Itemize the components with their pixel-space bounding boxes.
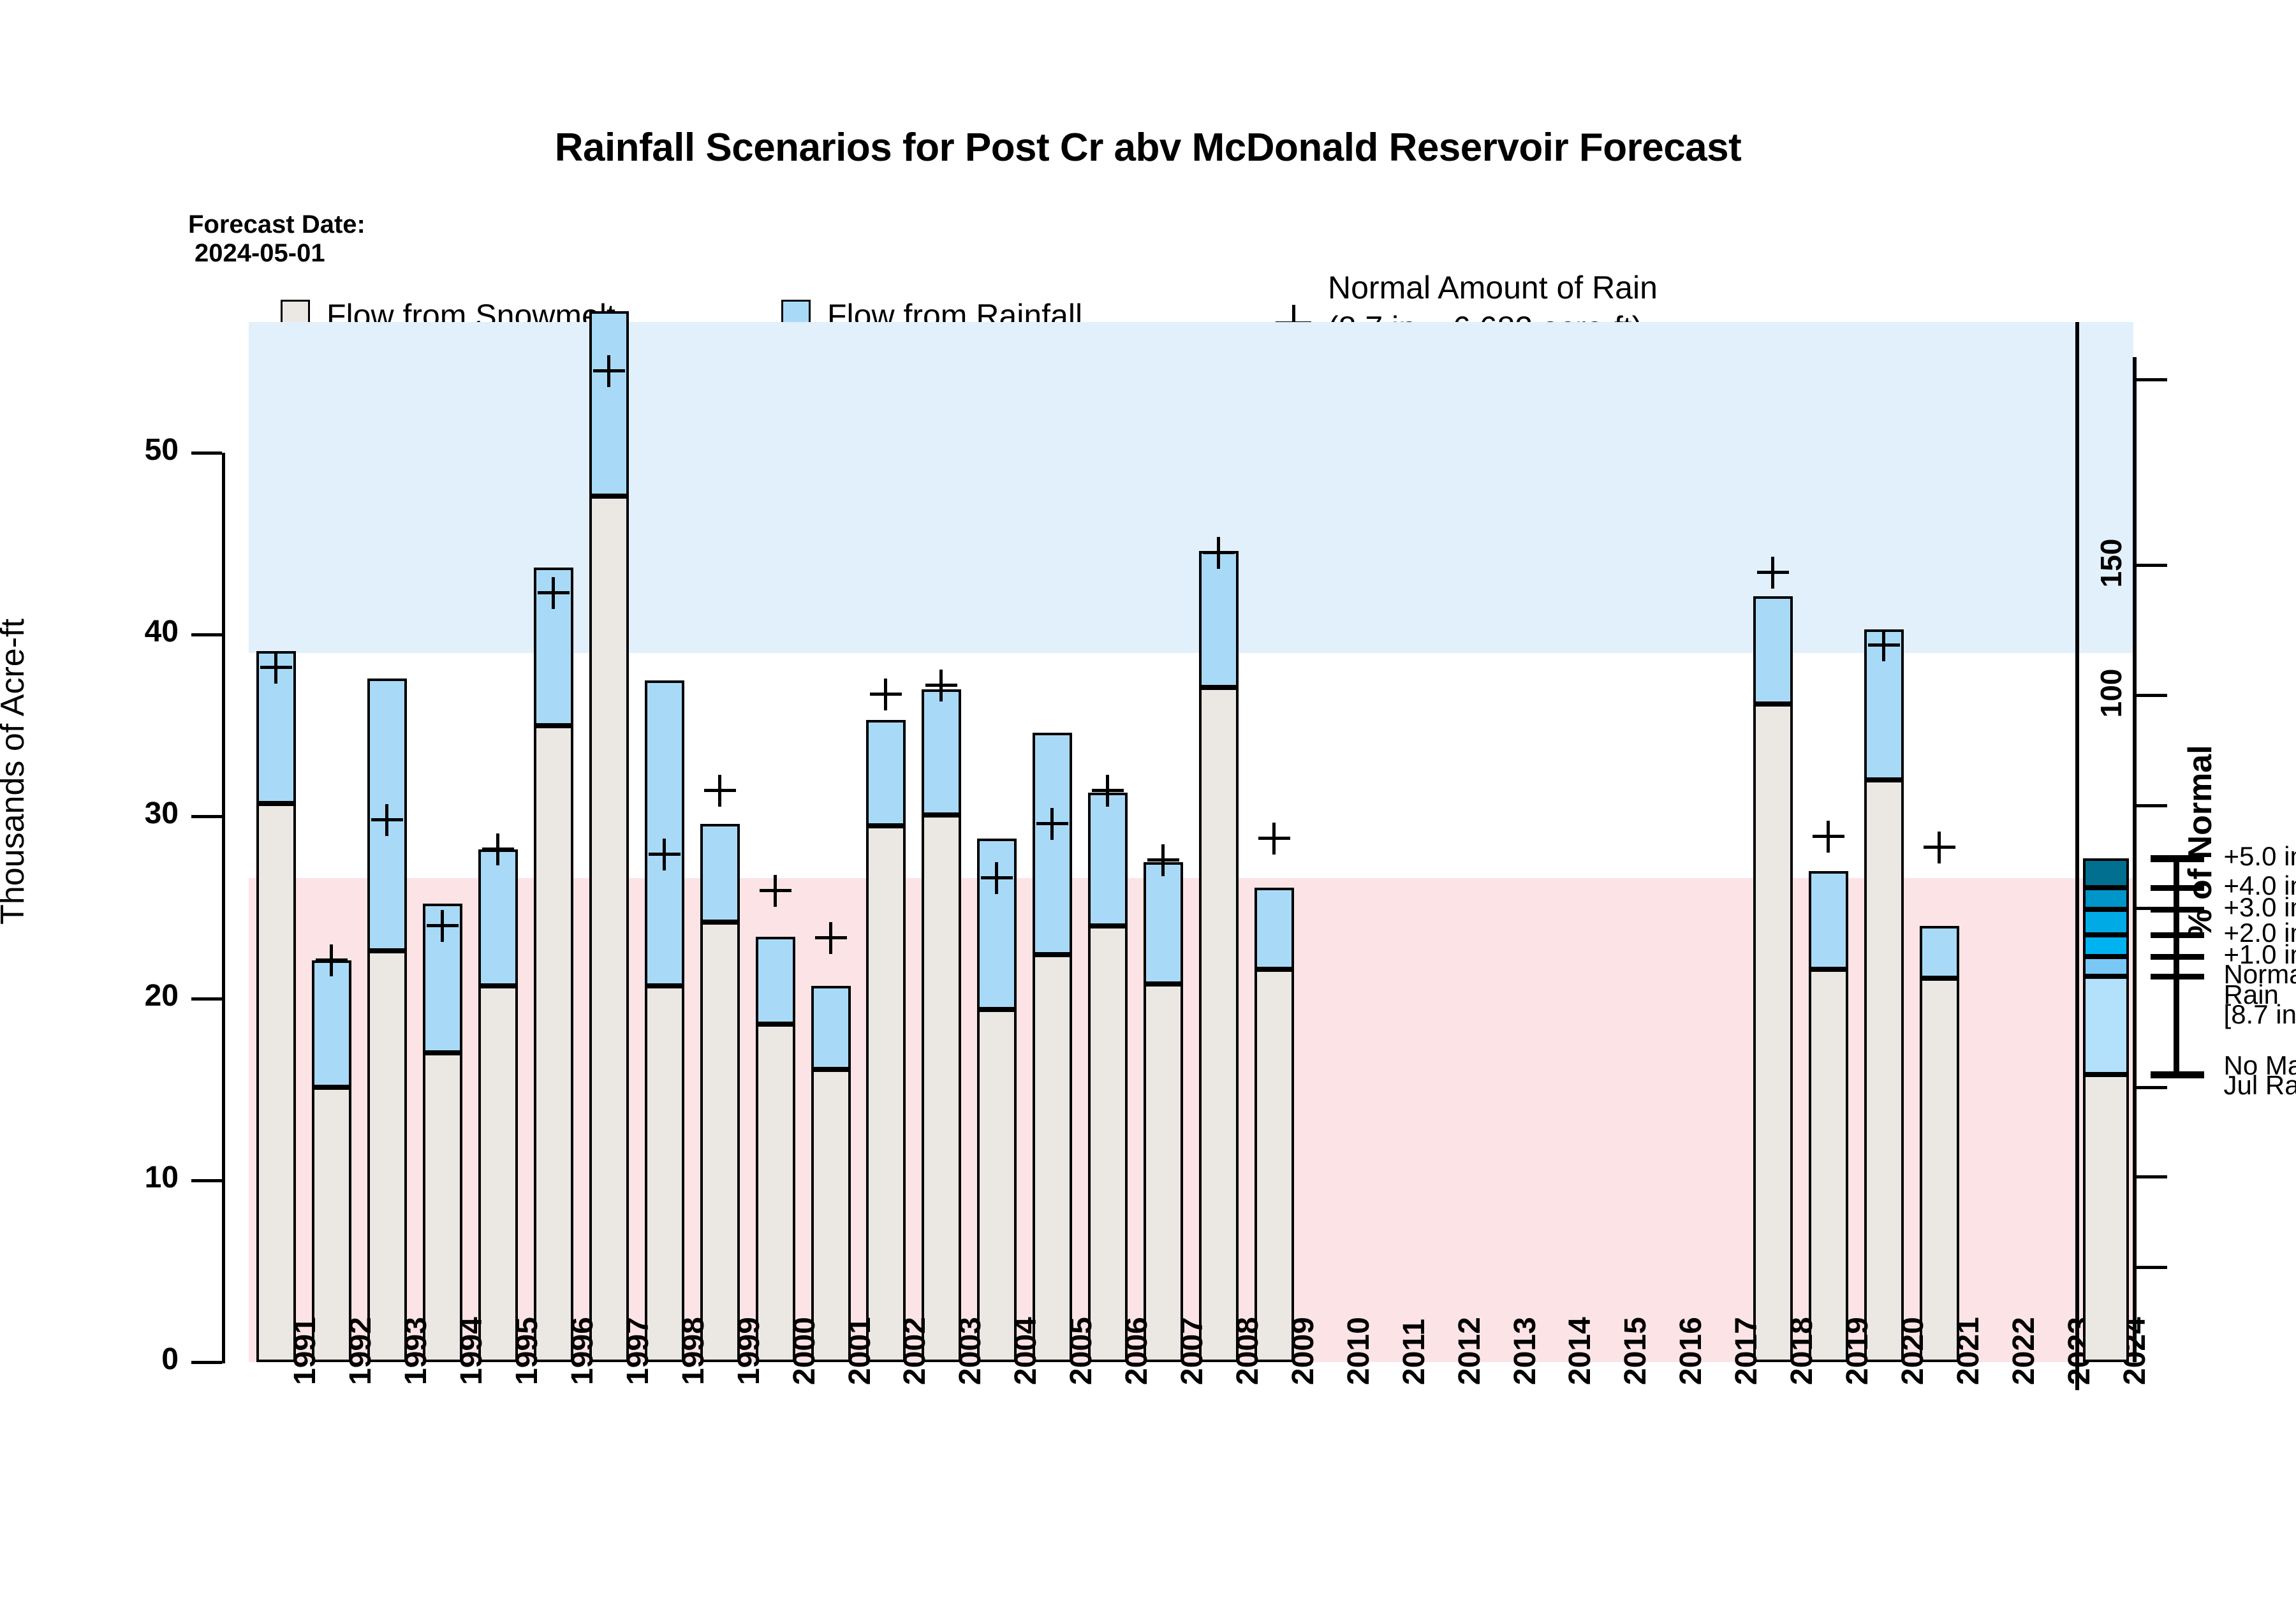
y-tick-label-20: 20 xyxy=(83,978,179,1013)
bar-2006[interactable] xyxy=(1088,793,1128,1362)
right-tick-minor-0 xyxy=(2137,378,2167,381)
plot-area xyxy=(249,322,2133,1362)
scenario-ruler-rod xyxy=(2174,858,2179,1075)
right-axis-line xyxy=(2133,357,2137,1362)
bar-2009[interactable] xyxy=(1255,888,1294,1362)
x-axis-label-2019: 2019 xyxy=(1840,1317,1875,1385)
x-axis-label-1998: 1998 xyxy=(676,1317,711,1385)
y-tick-label-40: 40 xyxy=(83,614,179,649)
bar-segment-rainfall xyxy=(478,849,518,986)
x-axis-label-2021: 2021 xyxy=(1951,1317,1986,1385)
y-tick-label-30: 30 xyxy=(83,796,179,831)
bar-2002[interactable] xyxy=(866,720,906,1362)
bar-1993[interactable] xyxy=(367,679,407,1362)
normal-rain-marker-2000 xyxy=(760,875,791,907)
x-axis-label-1995: 1995 xyxy=(510,1317,545,1385)
normal-rain-marker-2001 xyxy=(815,922,847,954)
bar-segment-snowmelt xyxy=(367,951,407,1362)
bar-1994[interactable] xyxy=(423,904,462,1362)
x-axis-label-1994: 1994 xyxy=(454,1317,489,1385)
x-axis-label-2007: 2007 xyxy=(1175,1317,1210,1385)
x-axis-label-2014: 2014 xyxy=(1563,1317,1598,1385)
normal-rain-marker-2005 xyxy=(1036,808,1068,840)
y-tick-30 xyxy=(191,815,222,818)
scenario-segment-no-rain xyxy=(2083,1075,2129,1362)
scenario-ruler-tick-1 xyxy=(2151,885,2204,891)
bar-segment-rainfall xyxy=(1199,551,1239,687)
bar-1995[interactable] xyxy=(478,849,518,1362)
bar-1997[interactable] xyxy=(589,311,629,1362)
bar-segment-rainfall xyxy=(1144,862,1183,984)
x-axis-label-1991: 1991 xyxy=(288,1317,323,1385)
bar-segment-rainfall xyxy=(1088,793,1128,925)
x-axis-label-2000: 2000 xyxy=(787,1317,822,1385)
x-axis-label-1999: 1999 xyxy=(732,1317,767,1385)
x-axis-label-1992: 1992 xyxy=(343,1317,378,1385)
bar-2008[interactable] xyxy=(1199,551,1239,1362)
y-tick-50 xyxy=(191,451,222,455)
band-below-normal xyxy=(249,878,2133,1362)
right-tick-minor-2 xyxy=(2137,1175,2167,1178)
y-axis-bottom-cap xyxy=(222,1360,225,1363)
normal-rain-marker-2002 xyxy=(870,679,902,710)
x-axis-label-2013: 2013 xyxy=(1508,1317,1543,1385)
y-axis-title: Thousands of Acre-ft xyxy=(0,421,32,1122)
normal-rain-marker-2019 xyxy=(1813,821,1844,853)
normal-rain-marker-1999 xyxy=(704,775,736,807)
bar-segment-rainfall xyxy=(1033,733,1072,955)
bar-segment-snowmelt xyxy=(256,803,296,1362)
x-axis-label-2016: 2016 xyxy=(1674,1317,1709,1385)
normal-rain-marker-1996 xyxy=(538,577,570,609)
x-axis-label-2018: 2018 xyxy=(1785,1317,1820,1385)
bar-segment-snowmelt xyxy=(478,986,518,1362)
scenario-separator-line xyxy=(2075,322,2079,1390)
bar-segment-snowmelt xyxy=(1753,704,1793,1362)
bar-2000[interactable] xyxy=(756,937,795,1362)
x-axis-label-2002: 2002 xyxy=(897,1317,932,1385)
normal-rain-marker-1994 xyxy=(427,910,459,942)
bar-segment-rainfall xyxy=(866,720,906,825)
bar-segment-snowmelt xyxy=(1088,926,1128,1362)
right-tick-minor-1 xyxy=(2137,804,2167,807)
y-tick-0 xyxy=(191,1361,222,1364)
bar-segment-snowmelt xyxy=(756,1024,795,1362)
normal-rain-marker-2009 xyxy=(1258,823,1290,855)
scenario-ruler-tick-5 xyxy=(2151,974,2204,980)
x-axis-label-2020: 2020 xyxy=(1895,1317,1931,1385)
normal-rain-marker-2004 xyxy=(981,862,1013,894)
x-axis-label-2012: 2012 xyxy=(1452,1317,1487,1385)
bar-2019[interactable] xyxy=(1809,871,1848,1362)
bar-2020[interactable] xyxy=(1864,629,1904,1362)
bar-segment-rainfall xyxy=(1809,871,1848,969)
bar-2018[interactable] xyxy=(1753,596,1793,1362)
normal-rain-marker-1992 xyxy=(316,944,348,976)
right-tick-100 xyxy=(2137,694,2167,697)
bar-segment-snowmelt xyxy=(534,726,573,1362)
x-axis-label-2022: 2022 xyxy=(2006,1317,2042,1385)
y-axis-line xyxy=(222,453,225,1363)
bar-2004[interactable] xyxy=(977,839,1017,1362)
bar-segment-rainfall xyxy=(1255,888,1294,969)
x-axis-label-2001: 2001 xyxy=(843,1317,878,1385)
scenario-segment-4 xyxy=(2083,888,2129,909)
bar-segment-rainfall xyxy=(756,937,795,1024)
scenario-ruler-tick-0 xyxy=(2151,856,2204,862)
x-axis-label-2011: 2011 xyxy=(1397,1319,1432,1385)
bar-segment-snowmelt xyxy=(866,826,906,1362)
right-tick-50 xyxy=(2137,1086,2167,1089)
bar-segment-rainfall xyxy=(645,680,684,986)
bar-segment-rainfall xyxy=(811,986,851,1069)
y-tick-40 xyxy=(191,633,222,636)
normal-rain-marker-1995 xyxy=(482,833,514,865)
bar-segment-rainfall xyxy=(1753,596,1793,703)
x-axis-label-2004: 2004 xyxy=(1008,1317,1043,1385)
normal-rain-marker-2020 xyxy=(1868,629,1900,661)
x-axis-label-2003: 2003 xyxy=(953,1317,988,1385)
scenario-ruler-tick-2 xyxy=(2151,907,2204,913)
normal-rain-marker-2018 xyxy=(1757,557,1789,589)
bar-segment-snowmelt xyxy=(1809,969,1848,1362)
bar-1998[interactable] xyxy=(645,680,684,1363)
scenario-ruler-cap-bottom xyxy=(2151,1071,2204,1078)
scenario-ruler-tick-4 xyxy=(2151,954,2204,960)
normal-rain-marker-1993 xyxy=(371,804,403,836)
bar-segment-snowmelt xyxy=(1033,955,1072,1362)
x-axis-label-2015: 2015 xyxy=(1618,1317,1653,1385)
scenario-segment-3 xyxy=(2083,909,2129,935)
bar-segment-rainfall xyxy=(700,824,740,922)
x-axis-label-1996: 1996 xyxy=(565,1317,600,1385)
bar-segment-snowmelt xyxy=(922,815,961,1362)
scenario-ruler-tick-3 xyxy=(2151,932,2204,938)
bar-2007[interactable] xyxy=(1144,862,1183,1362)
bar-2021[interactable] xyxy=(1920,926,1959,1362)
scenario-segment-5 xyxy=(2083,858,2129,888)
normal-rain-marker-2021 xyxy=(1924,832,1955,863)
bar-1999[interactable] xyxy=(700,824,740,1362)
legend-normal-line1: Normal Amount of Rain xyxy=(1328,270,1658,305)
y-tick-20 xyxy=(191,997,222,1001)
scenario-segment-1 xyxy=(2083,957,2129,976)
right-tick-label-100: 100 xyxy=(2094,655,2128,731)
bar-segment-rainfall xyxy=(922,689,961,815)
band-above-normal xyxy=(249,322,2133,653)
normal-rain-marker-1991 xyxy=(260,652,292,684)
scenario-key-bar xyxy=(2083,858,2129,1362)
bar-2003[interactable] xyxy=(922,689,961,1362)
bar-segment-rainfall xyxy=(589,311,629,497)
x-axis-label-1997: 1997 xyxy=(621,1317,656,1385)
bar-1996[interactable] xyxy=(534,568,573,1362)
forecast-date-block: Forecast Date: 2024-05-01 xyxy=(188,210,365,268)
bar-segment-snowmelt xyxy=(977,1009,1017,1362)
right-tick-150 xyxy=(2137,564,2167,567)
bar-segment-snowmelt xyxy=(1255,969,1294,1362)
bar-segment-snowmelt xyxy=(1920,978,1959,1362)
x-axis-label-2005: 2005 xyxy=(1064,1317,1099,1385)
y-tick-10 xyxy=(191,1179,222,1182)
bar-segment-snowmelt xyxy=(589,496,629,1362)
normal-rain-marker-2007 xyxy=(1147,844,1179,876)
y-tick-label-0: 0 xyxy=(83,1342,179,1377)
forecast-date-label: Forecast Date: xyxy=(188,210,365,239)
scenario-label-50in: +5.0 in xyxy=(2224,843,2296,870)
x-axis-label-2010: 2010 xyxy=(1341,1317,1376,1385)
forecast-date-value: 2024-05-01 xyxy=(188,239,365,268)
scenario-segment-0 xyxy=(2083,976,2129,1075)
y-tick-label-50: 50 xyxy=(83,432,179,467)
bar-1992[interactable] xyxy=(312,960,351,1362)
bar-segment-rainfall xyxy=(312,960,351,1088)
x-axis-label-2008: 2008 xyxy=(1230,1317,1265,1385)
scenario-label-norain-line2: Jul Rain xyxy=(2224,1072,2296,1099)
y-tick-label-10: 10 xyxy=(83,1160,179,1195)
scenario-segment-2 xyxy=(2083,935,2129,957)
normal-rain-marker-1997 xyxy=(593,355,625,387)
bar-segment-snowmelt xyxy=(1864,780,1904,1362)
x-axis-label-1993: 1993 xyxy=(399,1317,434,1385)
bar-segment-snowmelt xyxy=(423,1053,462,1362)
right-tick-label-150: 150 xyxy=(2094,525,2128,601)
normal-rain-marker-1998 xyxy=(649,839,681,870)
right-tick-25 xyxy=(2137,1266,2167,1269)
bar-1991[interactable] xyxy=(256,651,296,1362)
x-axis-label-2006: 2006 xyxy=(1119,1317,1154,1385)
bar-2001[interactable] xyxy=(811,986,851,1362)
scenario-label-normal-line3: [8.7 in] xyxy=(2224,1001,2296,1029)
normal-rain-marker-2003 xyxy=(925,670,957,701)
normal-rain-marker-2008 xyxy=(1203,537,1235,569)
x-axis-label-2009: 2009 xyxy=(1286,1317,1321,1385)
bar-segment-snowmelt xyxy=(1144,984,1183,1362)
bar-segment-snowmelt xyxy=(645,986,684,1362)
bar-segment-rainfall xyxy=(1920,926,1959,979)
scenario-key-ruler xyxy=(2151,852,2221,1081)
page-title: Rainfall Scenarios for Post Cr abv McDon… xyxy=(0,125,2296,170)
x-axis-label-2017: 2017 xyxy=(1729,1317,1764,1385)
normal-rain-marker-2006 xyxy=(1092,775,1124,807)
bar-segment-snowmelt xyxy=(1199,687,1239,1362)
bar-segment-snowmelt xyxy=(700,922,740,1362)
